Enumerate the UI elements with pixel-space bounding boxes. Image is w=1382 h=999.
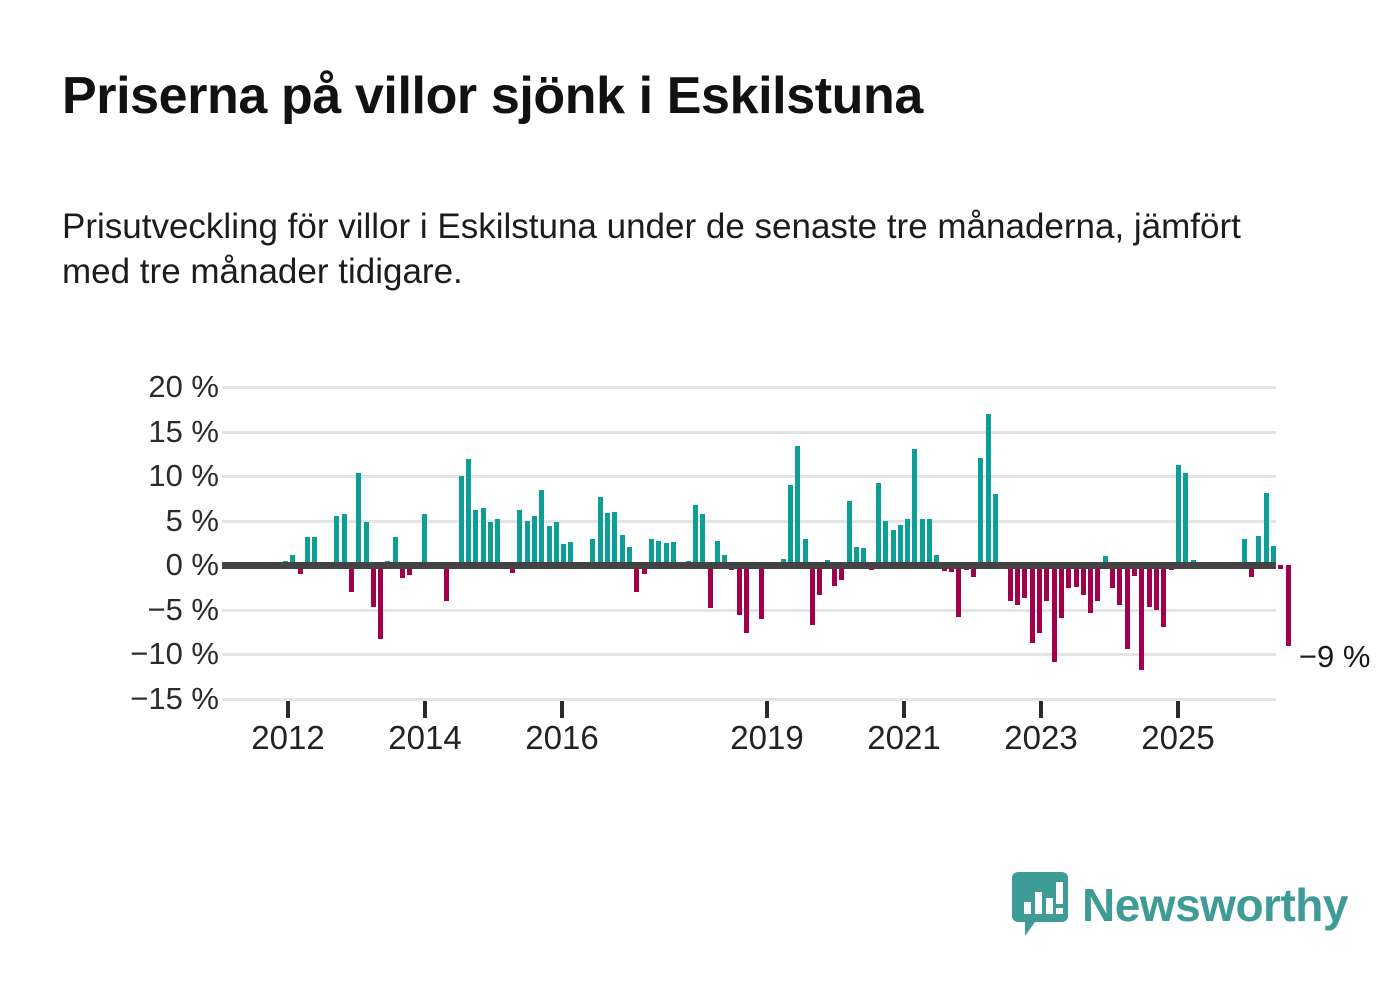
bar — [708, 565, 713, 608]
bar — [393, 537, 398, 566]
x-axis-tick-mark — [765, 701, 769, 718]
plot-area — [222, 387, 1276, 699]
bar — [473, 510, 478, 565]
bar — [605, 513, 610, 566]
x-axis-tick-mark — [286, 701, 290, 718]
bar — [876, 483, 881, 565]
zero-baseline — [222, 562, 1276, 569]
bar — [466, 459, 471, 565]
bar — [1154, 565, 1159, 610]
bar — [1147, 565, 1152, 607]
bar — [883, 521, 888, 566]
bar — [986, 414, 991, 566]
bar — [759, 565, 764, 618]
bar — [1242, 539, 1247, 566]
bar — [334, 516, 339, 565]
bar — [349, 565, 354, 592]
bar — [1256, 536, 1261, 565]
x-axis-tick-label: 2014 — [388, 719, 461, 757]
bar — [737, 565, 742, 615]
y-axis-tick-label: 10 % — [59, 458, 219, 494]
bar — [1008, 565, 1013, 601]
bar — [1088, 565, 1093, 612]
x-axis-tick-mark — [560, 701, 564, 718]
bar — [1286, 565, 1291, 645]
bar — [920, 519, 925, 565]
last-value-annotation: −9 % — [1295, 639, 1375, 675]
bar — [554, 522, 559, 566]
bar — [444, 565, 449, 601]
bar — [744, 565, 749, 633]
bar — [495, 519, 500, 565]
bar — [700, 514, 705, 565]
bar — [305, 537, 310, 566]
bar — [590, 539, 595, 566]
x-axis-tick-label: 2021 — [867, 719, 940, 757]
bar — [927, 519, 932, 565]
y-axis-tick-label: −10 % — [59, 636, 219, 672]
bar — [649, 539, 654, 566]
y-axis-tick-label: 0 % — [59, 547, 219, 583]
x-axis-tick-mark — [1176, 701, 1180, 718]
y-axis-tick-label: −15 % — [59, 681, 219, 717]
bar — [898, 525, 903, 565]
x-axis-tick-mark — [1039, 701, 1043, 718]
bar — [1037, 565, 1042, 633]
x-axis-line — [222, 699, 1276, 701]
bar — [342, 514, 347, 565]
logo-wordmark: Newsworthy — [1082, 882, 1348, 928]
bar — [817, 565, 822, 594]
bar — [371, 565, 376, 607]
bar — [1139, 565, 1144, 669]
x-axis-tick-label: 2025 — [1141, 719, 1214, 757]
bar — [517, 510, 522, 565]
bar — [312, 537, 317, 566]
bar — [1095, 565, 1100, 601]
bar — [1117, 565, 1122, 605]
bar — [1052, 565, 1057, 661]
bar — [788, 485, 793, 565]
bar — [1030, 565, 1035, 643]
bar — [993, 494, 998, 565]
bar-chart: 20 %15 %10 %5 %0 %−5 %−10 %−15 %20122014… — [0, 0, 1382, 999]
bar — [539, 490, 544, 566]
bar — [1044, 565, 1049, 601]
bar — [422, 514, 427, 566]
bar — [481, 508, 486, 565]
bar — [905, 519, 910, 565]
chart-page: Priserna på villor sjönk i Eskilstuna Pr… — [0, 0, 1382, 999]
bar — [1183, 473, 1188, 565]
bar — [620, 535, 625, 565]
x-axis-tick-mark — [423, 701, 427, 718]
bar — [1176, 465, 1181, 565]
bar — [978, 458, 983, 565]
bar — [1081, 565, 1086, 594]
bar — [1015, 565, 1020, 605]
x-axis-tick-label: 2016 — [525, 719, 598, 757]
y-axis-tick-label: −5 % — [59, 592, 219, 628]
y-axis-tick-label: 15 % — [59, 414, 219, 450]
bar — [634, 565, 639, 592]
newsworthy-logo: Newsworthy — [1012, 872, 1348, 938]
x-axis-tick-label: 2012 — [251, 719, 324, 757]
bar — [1059, 565, 1064, 618]
bar — [612, 512, 617, 565]
bar — [459, 476, 464, 565]
bar — [1022, 565, 1027, 598]
x-axis-tick-label: 2023 — [1004, 719, 1077, 757]
bar — [803, 539, 808, 566]
bar — [488, 522, 493, 566]
bar — [356, 473, 361, 565]
bar — [525, 521, 530, 566]
bar — [956, 565, 961, 617]
bar — [1264, 493, 1269, 565]
bar — [598, 497, 603, 566]
bar — [364, 522, 369, 566]
bar — [378, 565, 383, 639]
bar — [912, 449, 917, 566]
bar-chart-speech-bubble-icon — [1012, 872, 1068, 938]
y-axis-tick-label: 5 % — [59, 503, 219, 539]
bar — [532, 516, 537, 565]
bar-series — [222, 387, 1276, 699]
bar — [891, 530, 896, 566]
bar — [795, 446, 800, 565]
bar — [847, 501, 852, 565]
y-axis-tick-label: 20 % — [59, 369, 219, 405]
bar — [693, 505, 698, 566]
x-axis-tick-label: 2019 — [730, 719, 803, 757]
bar — [810, 565, 815, 625]
bar — [1161, 565, 1166, 627]
bar — [1278, 565, 1283, 569]
bar — [1125, 565, 1130, 649]
x-axis-tick-mark — [902, 701, 906, 718]
bar — [547, 526, 552, 565]
